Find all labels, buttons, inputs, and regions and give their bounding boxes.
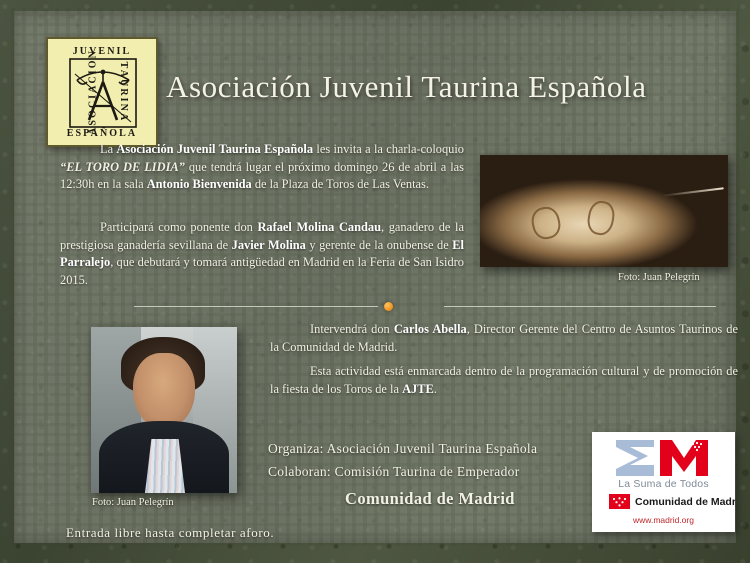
bull-photograph	[480, 155, 728, 267]
poster-canvas: JUVENIL ESPAÑOLA ASOCIACION TAURINA Asoc…	[0, 0, 750, 563]
organizer-line: Organiza: Asociación Juvenil Taurina Esp…	[268, 441, 537, 457]
p2-text-e: y gerente de la onubense de	[306, 238, 452, 252]
entry-note: Entrada libre hasta completar aforo.	[66, 525, 274, 541]
bull-horn-highlight	[662, 187, 724, 197]
ajte-logo-word-espanola: ESPAÑOLA	[48, 128, 156, 139]
cm-name-strip: Comunidad de Madrid	[609, 494, 735, 509]
portrait-photograph	[91, 327, 237, 493]
p3-person-name: Carlos Abella	[394, 322, 467, 336]
page-title: Asociación Juvenil Taurina Española	[166, 69, 740, 105]
cm-sigma-m-icon	[614, 438, 714, 478]
collaborators-line: Colaboran: Comisión Taurina de Emperador	[268, 464, 520, 480]
p4-text-a: Esta actividad está enmarcada dentro de …	[270, 364, 738, 396]
bull-brand-mark-b	[585, 199, 617, 237]
ajte-logo: JUVENIL ESPAÑOLA ASOCIACION TAURINA	[46, 37, 158, 147]
divider-dot-icon	[384, 302, 393, 311]
portrait-photo-caption: Foto: Juan Pelegrín	[92, 497, 174, 508]
divider-line-left	[134, 306, 378, 307]
madrid-flag-icon	[609, 494, 630, 509]
p1-talk-title: “EL TORO DE LIDIA”	[60, 160, 185, 174]
paragraph-programme: Esta actividad está enmarcada dentro de …	[270, 363, 738, 398]
cm-slogan: La Suma de Todos	[592, 478, 735, 490]
p2-speaker-name: Rafael Molina Candau	[257, 220, 381, 234]
bull-photo-caption: Foto: Juan Pelegrín	[618, 272, 700, 283]
bull-brand-mark-a	[529, 204, 563, 241]
divider-line-right	[444, 306, 716, 307]
p1-text-a: La	[100, 142, 116, 156]
ajte-monogram-icon	[69, 58, 137, 128]
p4-acronym-ajte: AJTE	[402, 382, 434, 396]
p2-ranch-javier-molina: Javier Molina	[232, 238, 306, 252]
p3-text-a: Intervendrá don	[310, 322, 394, 336]
p1-text-c: les invita a la charla-coloquio	[313, 142, 464, 156]
p1-text-g: de la Plaza de Toros de Las Ventas.	[252, 177, 429, 191]
cm-website-url: www.madrid.org	[592, 515, 735, 525]
madrid-stars-icon	[611, 497, 628, 507]
p1-org-name: Asociación Juvenil Taurina Española	[116, 142, 313, 156]
p4-text-c: .	[434, 382, 437, 396]
ajte-logo-word-juvenil: JUVENIL	[48, 46, 156, 57]
p2-text-g: , que debutará y tomará antigüedad en Ma…	[60, 255, 464, 287]
section-divider	[134, 302, 716, 312]
paragraph-speaker: Participará como ponente don Rafael Moli…	[60, 219, 464, 289]
paragraph-intervention: Intervendrá don Carlos Abella, Director …	[270, 321, 738, 356]
cm-name-text: Comunidad de Madrid	[635, 496, 735, 508]
comunidad-de-madrid-logo: La Suma de Todos Comunidad de Madrid www…	[592, 432, 735, 532]
paragraph-invitation: La Asociación Juvenil Taurina Española l…	[60, 141, 464, 194]
p1-venue-room: Antonio Bienvenida	[147, 177, 252, 191]
portrait-shirt	[145, 439, 185, 493]
p2-text-a: Participará como ponente don	[100, 220, 257, 234]
portrait-face	[133, 353, 195, 429]
poster-inner-panel: JUVENIL ESPAÑOLA ASOCIACION TAURINA Asoc…	[14, 11, 736, 543]
comunidad-de-madrid-line: Comunidad de Madrid	[345, 489, 515, 509]
